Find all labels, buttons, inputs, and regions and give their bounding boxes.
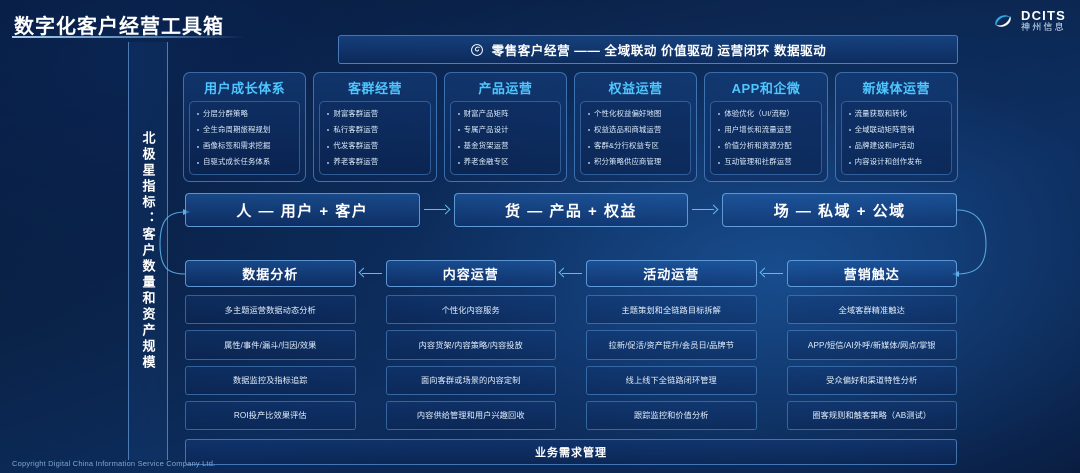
bottom-bar[interactable]: 业务需求管理 [185,439,957,465]
detail-cell[interactable]: 主题策划和全链路目标拆解 [586,295,757,324]
pillar-item: 分层分群策略 [195,110,296,119]
bullet-icon [197,146,199,148]
pillar-item: 体验优化（UI/流程） [716,110,817,119]
pillar-card[interactable]: 客群经营 财富客群运营 私行客群运营 代发客群运营 养老客群运营 [313,72,436,182]
stage-arrow-left-icon [356,268,386,280]
detail-cell[interactable]: 全域客群精准触达 [787,295,958,324]
bullet-icon [327,129,329,131]
flow-box-people[interactable]: 人 — 用户 + 客户 [185,193,420,227]
stage-campaign-ops[interactable]: 活动运营 [586,260,757,287]
pillar-item: 养老客群运营 [325,158,426,167]
detail-column-marketing-reach: 全域客群精准触达 APP/短信/AI外呼/新媒体/网点/掌银 受众偏好和渠道特性… [787,295,958,430]
stage-arrow-left-icon [757,268,787,280]
pillar-item-label: 全域联动矩阵营销 [855,126,915,135]
bullet-icon [327,113,329,115]
bullet-icon [849,113,851,115]
pillar-item-label: 养老客群运营 [333,158,378,167]
detail-cell[interactable]: 面向客群或场景的内容定制 [386,366,557,395]
pillar-item-label: 财富产品矩阵 [464,110,509,119]
top-banner-text: 零售客户经营 —— 全域联动 价值驱动 运营闭环 数据驱动 [492,40,827,59]
stage-row: 数据分析 内容运营 活动运营 营销触达 [185,260,957,287]
pillar-item-label: 价值分析和资源分配 [724,142,791,151]
bullet-icon [458,162,460,164]
pillar-item: 内容设计和创作发布 [847,158,948,167]
pillar-item-label: 自驱式成长任务体系 [203,158,270,167]
flow-box-field[interactable]: 场 — 私域 + 公域 [722,193,957,227]
pillar-item: 财富产品矩阵 [456,110,557,119]
brand-logo: DCITS 神州信息 [991,9,1066,33]
bullet-icon [588,146,590,148]
bullet-icon [588,162,590,164]
bullet-icon [197,162,199,164]
detail-cell[interactable]: 拉新/促活/资产提升/会员日/品牌节 [586,330,757,359]
pillar-item-label: 互动管理和社群运营 [724,158,791,167]
stage-arrow-left-icon [556,268,586,280]
detail-cell[interactable]: 多主题运营数据动态分析 [185,295,356,324]
pillar-item: 画像标签和需求挖掘 [195,142,296,151]
pillar-item-label: 养老金融专区 [464,158,509,167]
pillar-item-label: 体验优化（UI/流程） [724,110,794,119]
pillar-item: 品牌建设和IP活动 [847,142,948,151]
flow-row: 人 — 用户 + 客户 货 — 产品 + 权益 场 — 私域 + 公域 [185,193,957,227]
detail-cell[interactable]: 内容供给管理和用户兴趣回收 [386,401,557,430]
bullet-icon [718,162,720,164]
detail-cell[interactable]: 线上线下全链路闭环管理 [586,366,757,395]
pillar-card[interactable]: 权益运营 个性化权益偏好地图 权益选品和商城运营 客群&分行权益专区 积分策略供… [574,72,697,182]
detail-grid: 多主题运营数据动态分析 属性/事件/漏斗/归因/效果 数据监控及指标追踪 ROI… [185,295,957,430]
pillar-item-label: 个性化权益偏好地图 [594,110,661,119]
bullet-icon [458,113,460,115]
detail-cell[interactable]: 数据监控及指标追踪 [185,366,356,395]
detail-cell[interactable]: ROI投产比效果评估 [185,401,356,430]
pillar-item: 个性化权益偏好地图 [586,110,687,119]
bullet-icon [849,129,851,131]
pillar-item: 私行客群运营 [325,126,426,135]
pillar-card[interactable]: 用户成长体系 分层分群策略 全生命周期旅程规划 画像标签和需求挖掘 自驱式成长任… [183,72,306,182]
pillar-title: 权益运营 [609,78,663,97]
bullet-icon [849,146,851,148]
flow-arrow-right-icon [420,204,454,216]
pillar-card[interactable]: 产品运营 财富产品矩阵 专属产品设计 基金货架运营 养老金融专区 [444,72,567,182]
pillar-item: 积分策略供应商管理 [586,158,687,167]
pillar-item-list: 流量获取和转化 全域联动矩阵营销 品牌建设和IP活动 内容设计和创作发布 [841,101,952,175]
bullet-icon [197,113,199,115]
pillar-item: 专属产品设计 [456,126,557,135]
bullet-icon [197,129,199,131]
pillar-item: 价值分析和资源分配 [716,142,817,151]
pillar-item: 全域联动矩阵营销 [847,126,948,135]
bullet-icon [718,113,720,115]
bullet-icon [327,146,329,148]
detail-column-data-analysis: 多主题运营数据动态分析 属性/事件/漏斗/归因/效果 数据监控及指标追踪 ROI… [185,295,356,430]
pillar-item-label: 积分策略供应商管理 [594,158,661,167]
pillar-item-label: 专属产品设计 [464,126,509,135]
bullet-icon [458,146,460,148]
detail-cell[interactable]: APP/短信/AI外呼/新媒体/网点/掌银 [787,330,958,359]
pillar-card[interactable]: APP和企微 体验优化（UI/流程） 用户增长和流量运营 价值分析和资源分配 互… [704,72,827,182]
pillar-title: APP和企微 [732,78,801,97]
pillar-item: 代发客群运营 [325,142,426,151]
bullet-icon [588,129,590,131]
north-star-rail: 北极星指标：客户数量和资产规模 [128,42,168,460]
flow-box-goods[interactable]: 货 — 产品 + 权益 [454,193,689,227]
pillar-item: 财富客群运营 [325,110,426,119]
copyright-text: Copyright Digital China Information Serv… [12,459,215,468]
pillar-title: 用户成长体系 [204,78,285,97]
pillar-title: 新媒体运营 [863,78,931,97]
stage-content-ops[interactable]: 内容运营 [386,260,557,287]
detail-cell[interactable]: 受众偏好和渠道特性分析 [787,366,958,395]
bullet-icon [718,129,720,131]
pillar-item-label: 基金货架运营 [464,142,509,151]
pillar-card[interactable]: 新媒体运营 流量获取和转化 全域联动矩阵营销 品牌建设和IP活动 内容设计和创作… [835,72,958,182]
pillar-item: 养老金融专区 [456,158,557,167]
pillar-item-list: 财富产品矩阵 专属产品设计 基金货架运营 养老金融专区 [450,101,561,175]
pillar-item-label: 权益选品和商城运营 [594,126,661,135]
target-swirl-icon [470,43,484,57]
pillar-item-label: 分层分群策略 [203,110,248,119]
pillar-item: 基金货架运营 [456,142,557,151]
pillar-item: 流量获取和转化 [847,110,948,119]
pillar-item-label: 用户增长和流量运营 [724,126,791,135]
pillar-item-list: 财富客群运营 私行客群运营 代发客群运营 养老客群运营 [319,101,430,175]
pillar-item-label: 品牌建设和IP活动 [855,142,915,151]
pillar-item-label: 客群&分行权益专区 [594,142,659,151]
stage-data-analysis[interactable]: 数据分析 [185,260,356,287]
pillar-item: 自驱式成长任务体系 [195,158,296,167]
pillar-item-list: 个性化权益偏好地图 权益选品和商城运营 客群&分行权益专区 积分策略供应商管理 [580,101,691,175]
pillar-item-label: 画像标签和需求挖掘 [203,142,270,151]
stage-marketing-reach[interactable]: 营销触达 [787,260,958,287]
pillar-item-label: 内容设计和创作发布 [855,158,922,167]
brand-name-cn: 神州信息 [1021,23,1066,32]
bullet-icon [458,129,460,131]
flow-arrow-right-icon [688,204,722,216]
dcits-logo-icon [991,9,1015,33]
pillar-card-row: 用户成长体系 分层分群策略 全生命周期旅程规划 画像标签和需求挖掘 自驱式成长任… [183,72,958,182]
detail-cell[interactable]: 属性/事件/漏斗/归因/效果 [185,330,356,359]
pillar-title: 客群经营 [348,78,402,97]
top-banner: 零售客户经营 —— 全域联动 价值驱动 运营闭环 数据驱动 [338,35,958,64]
detail-cell[interactable]: 内容货架/内容策略/内容投放 [386,330,557,359]
pillar-item-list: 分层分群策略 全生命周期旅程规划 画像标签和需求挖掘 自驱式成长任务体系 [189,101,300,175]
pillar-item-label: 流量获取和转化 [855,110,907,119]
detail-column-campaign-ops: 主题策划和全链路目标拆解 拉新/促活/资产提升/会员日/品牌节 线上线下全链路闭… [586,295,757,430]
pillar-item: 客群&分行权益专区 [586,142,687,151]
detail-column-content-ops: 个性化内容服务 内容货架/内容策略/内容投放 面向客群或场景的内容定制 内容供给… [386,295,557,430]
detail-cell[interactable]: 圈客规则和触客策略（AB测试） [787,401,958,430]
bullet-icon [718,146,720,148]
pillar-title: 产品运营 [478,78,532,97]
pillar-item-label: 财富客群运营 [333,110,378,119]
pillar-item: 用户增长和流量运营 [716,126,817,135]
detail-cell[interactable]: 跟踪监控和价值分析 [586,401,757,430]
pillar-item-label: 全生命周期旅程规划 [203,126,270,135]
north-star-label: 北极星指标：客户数量和资产规模 [142,131,155,371]
pillar-item: 互动管理和社群运营 [716,158,817,167]
page-title: 数字化客户经营工具箱 [14,10,224,39]
pillar-item-label: 代发客群运营 [333,142,378,151]
pillar-item-list: 体验优化（UI/流程） 用户增长和流量运营 价值分析和资源分配 互动管理和社群运… [710,101,821,175]
bullet-icon [588,113,590,115]
pillar-item: 全生命周期旅程规划 [195,126,296,135]
bullet-icon [327,162,329,164]
pillar-item: 权益选品和商城运营 [586,126,687,135]
pillar-item-label: 私行客群运营 [333,126,378,135]
title-divider [12,36,244,38]
bullet-icon [849,162,851,164]
detail-cell[interactable]: 个性化内容服务 [386,295,557,324]
